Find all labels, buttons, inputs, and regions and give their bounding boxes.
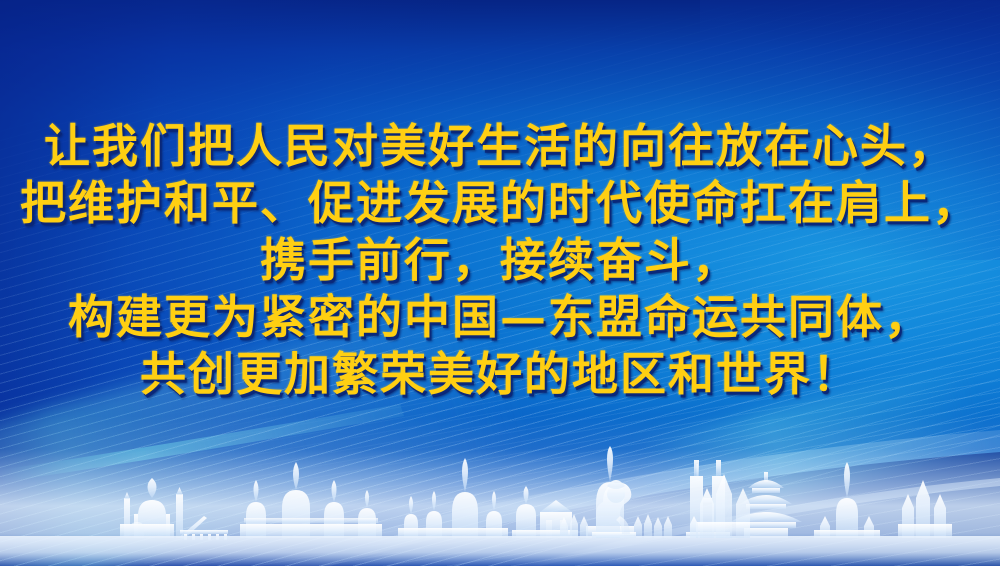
petronas-twin-towers-icon [686,460,730,538]
headline-line-4: 构建更为紧密的中国—东盟命运共同体， [0,289,1000,346]
angkor-wat-icon [240,462,382,538]
headline-line-2: 把维护和平、促进发展的时代使命扛在肩上， [0,175,1000,232]
borobudur-gate-icon [512,486,578,538]
temple-of-heaven-icon [730,472,802,538]
skyline-silhouette [0,446,1000,566]
royal-palace-flag-icon [730,456,733,474]
headline-text: 让我们把人民对美好生活的向往放在心头， 把维护和平、促进发展的时代使命扛在肩上，… [0,118,1000,403]
mosque-dome-icon [120,478,183,538]
banner-stage: 让我们把人民对美好生活的向往放在心头， 把维护和平、促进发展的时代使命扛在肩上，… [0,0,1000,566]
headline-line-1: 让我们把人民对美好生活的向往放在心头， [0,118,1000,175]
headline-line-3: 携手前行，接续奋斗， [0,232,1000,289]
thai-stupa-icon [814,462,880,538]
gothic-cathedral-icon [898,480,952,538]
shwedagon-pagoda-icon [398,458,508,538]
headline-line-5: 共创更加繁荣美好的地区和世界！ [0,346,1000,403]
